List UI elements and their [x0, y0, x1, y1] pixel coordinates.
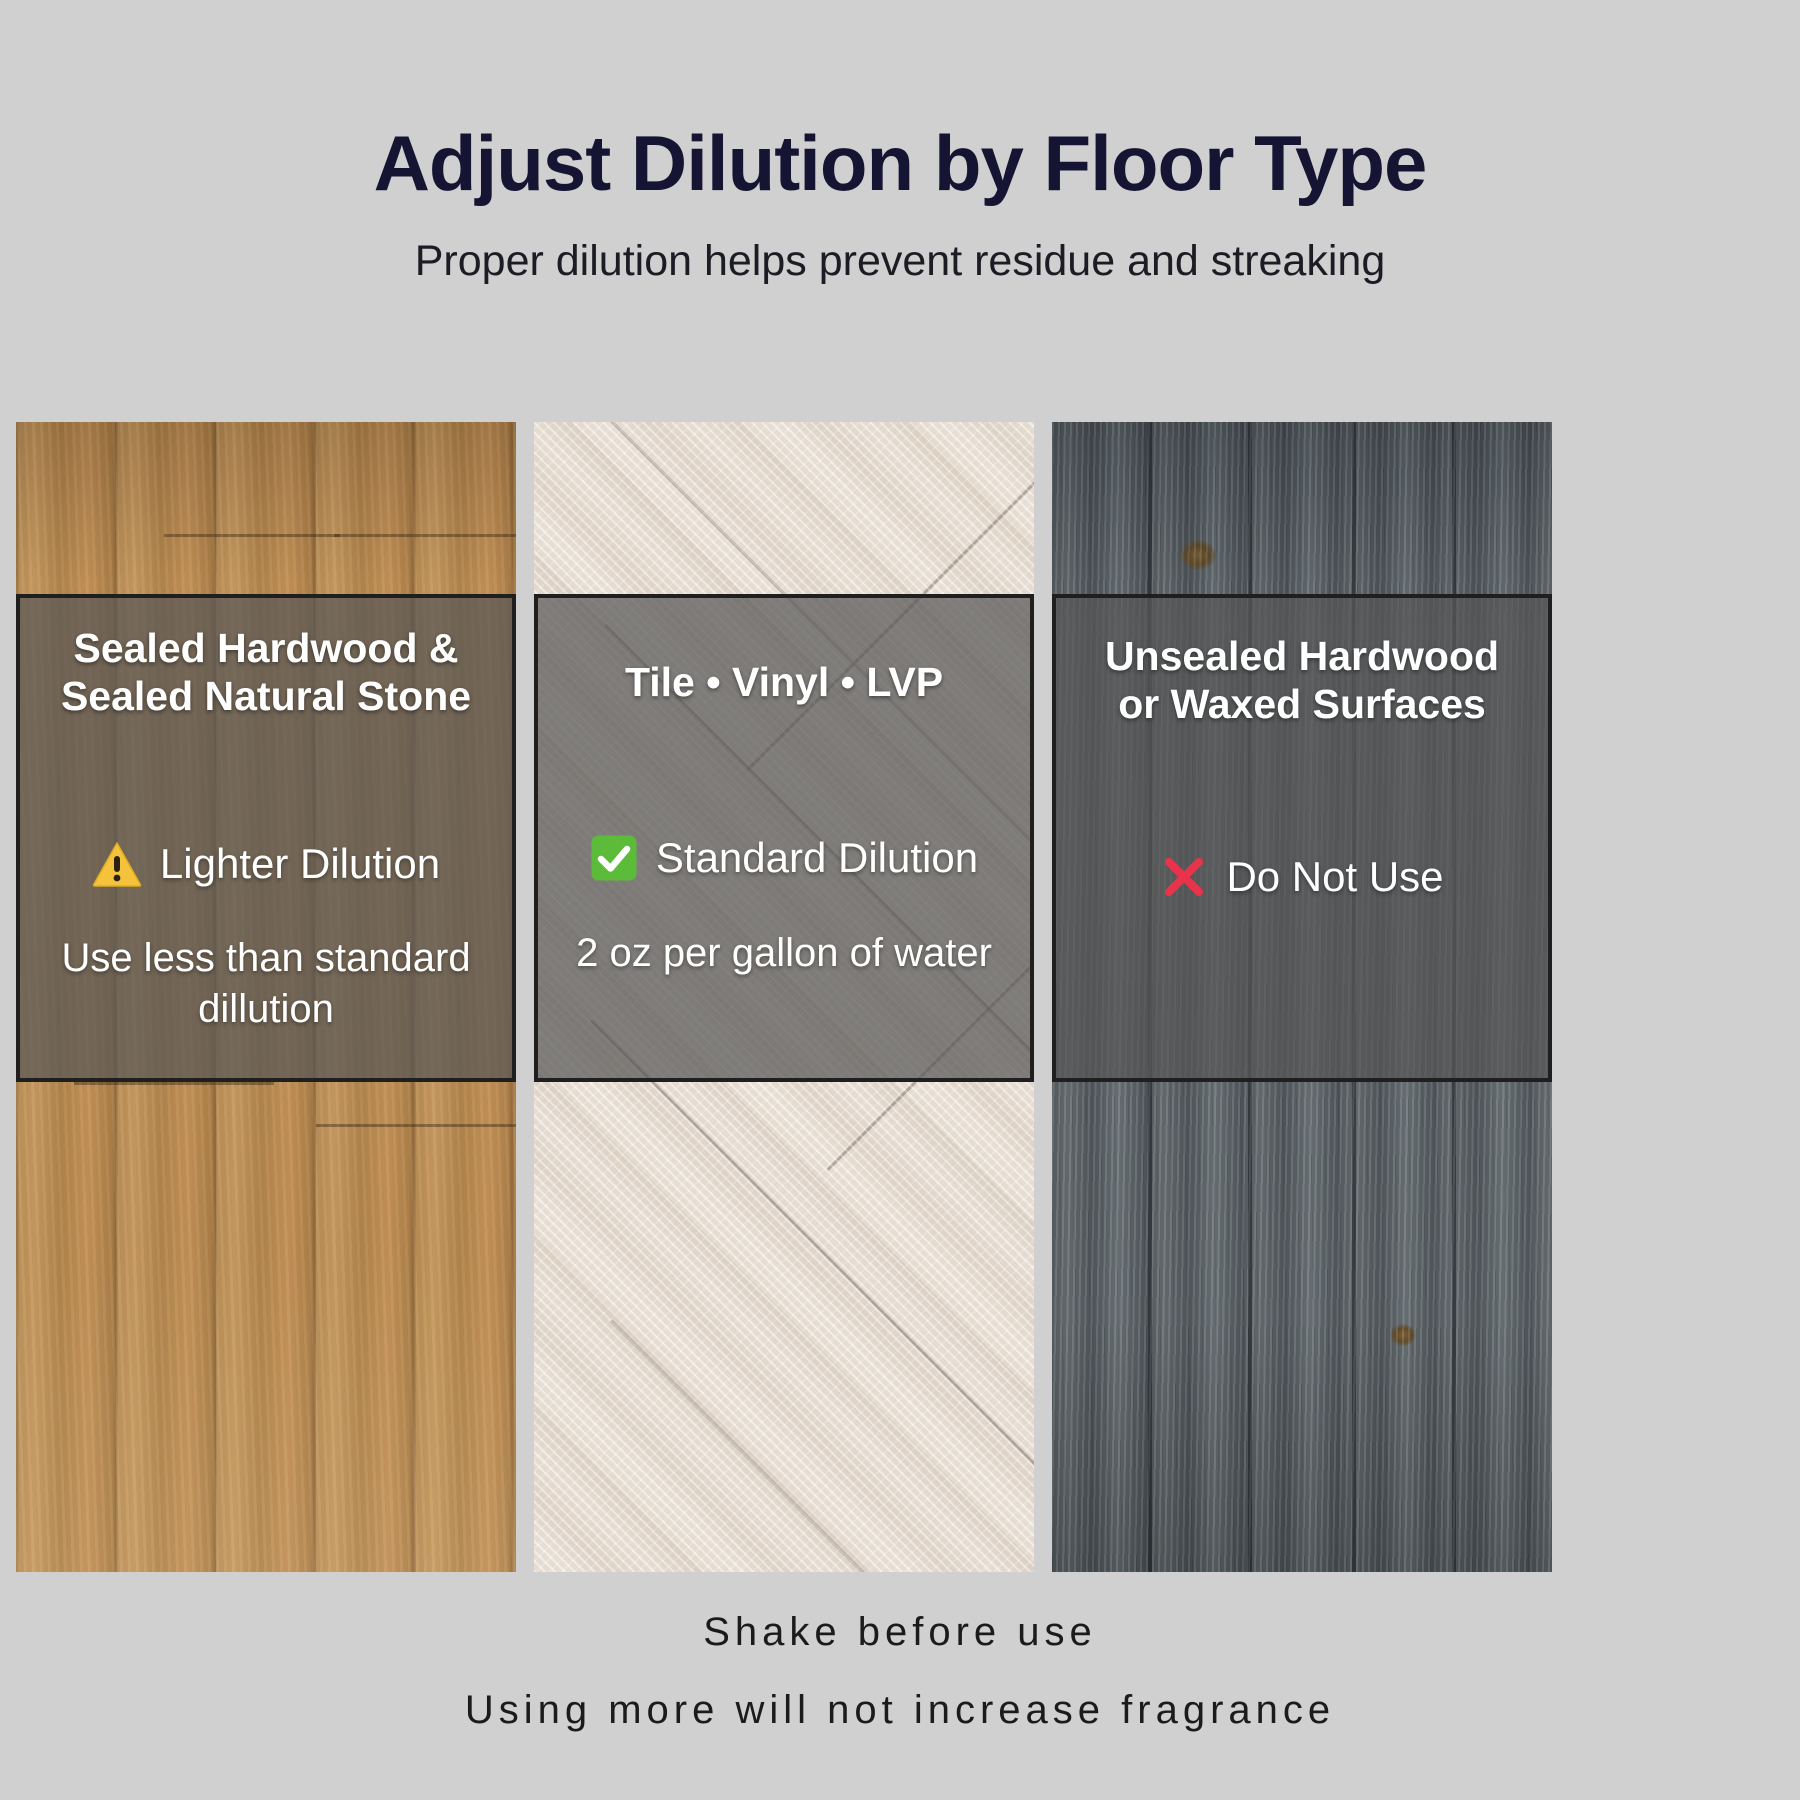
page-subtitle: Proper dilution helps prevent residue an… [0, 202, 1800, 283]
status-row: Lighter Dilution [36, 841, 496, 887]
infographic-page: Adjust Dilution by Floor Type Proper dil… [0, 0, 1800, 1800]
footer: Shake before use Using more will not inc… [0, 1612, 1800, 1730]
status-row: Standard Dilution [554, 834, 1014, 882]
floor-type-card-tile-vinyl-lvp[interactable]: Tile • Vinyl • LVP Standard Dilution 2 o… [534, 422, 1034, 1572]
check-square-icon [590, 834, 638, 882]
status-label: Lighter Dilution [160, 843, 440, 885]
status-label: Standard Dilution [656, 837, 978, 879]
card-detail-line-1: 2 oz per gallon of water [576, 931, 992, 975]
card-title: Unsealed Hardwood or Waxed Surfaces [1072, 624, 1532, 729]
card-title-line-2: or Waxed Surfaces [1118, 681, 1486, 727]
card-detail-line-2: dillution [198, 987, 334, 1031]
card-overlay-panel: Tile • Vinyl • LVP Standard Dilution 2 o… [534, 594, 1034, 1082]
footer-line-2: Using more will not increase fragrance [0, 1690, 1800, 1730]
card-title-line-1: Sealed Hardwood & [73, 625, 458, 671]
page-title: Adjust Dilution by Floor Type [0, 0, 1800, 202]
card-detail-line-1: Use less than standard [61, 936, 470, 980]
card-title: Sealed Hardwood & Sealed Natural Stone [36, 624, 496, 721]
floor-type-card-grid: Sealed Hardwood & Sealed Natural Stone L… [16, 422, 1784, 1572]
card-title-line-2: Sealed Natural Stone [61, 673, 471, 719]
status-label: Do Not Use [1226, 856, 1443, 898]
floor-type-card-sealed-hardwood-stone[interactable]: Sealed Hardwood & Sealed Natural Stone L… [16, 422, 516, 1572]
floor-type-card-unsealed-waxed[interactable]: Unsealed Hardwood or Waxed Surfaces Do N… [1052, 422, 1552, 1572]
header: Adjust Dilution by Floor Type Proper dil… [0, 0, 1800, 283]
warning-triangle-icon [92, 841, 142, 887]
card-overlay-panel: Unsealed Hardwood or Waxed Surfaces Do N… [1052, 594, 1552, 1082]
status-row: Do Not Use [1072, 853, 1532, 901]
card-title-line-1: Tile • Vinyl • LVP [625, 659, 943, 705]
red-x-icon [1160, 853, 1208, 901]
footer-line-1: Shake before use [0, 1612, 1800, 1652]
card-overlay-panel: Sealed Hardwood & Sealed Natural Stone L… [16, 594, 516, 1082]
card-detail: 2 oz per gallon of water [554, 882, 1014, 979]
card-title: Tile • Vinyl • LVP [554, 624, 1014, 706]
card-title-line-1: Unsealed Hardwood [1105, 633, 1499, 679]
card-detail: Use less than standard dillution [36, 887, 496, 1035]
